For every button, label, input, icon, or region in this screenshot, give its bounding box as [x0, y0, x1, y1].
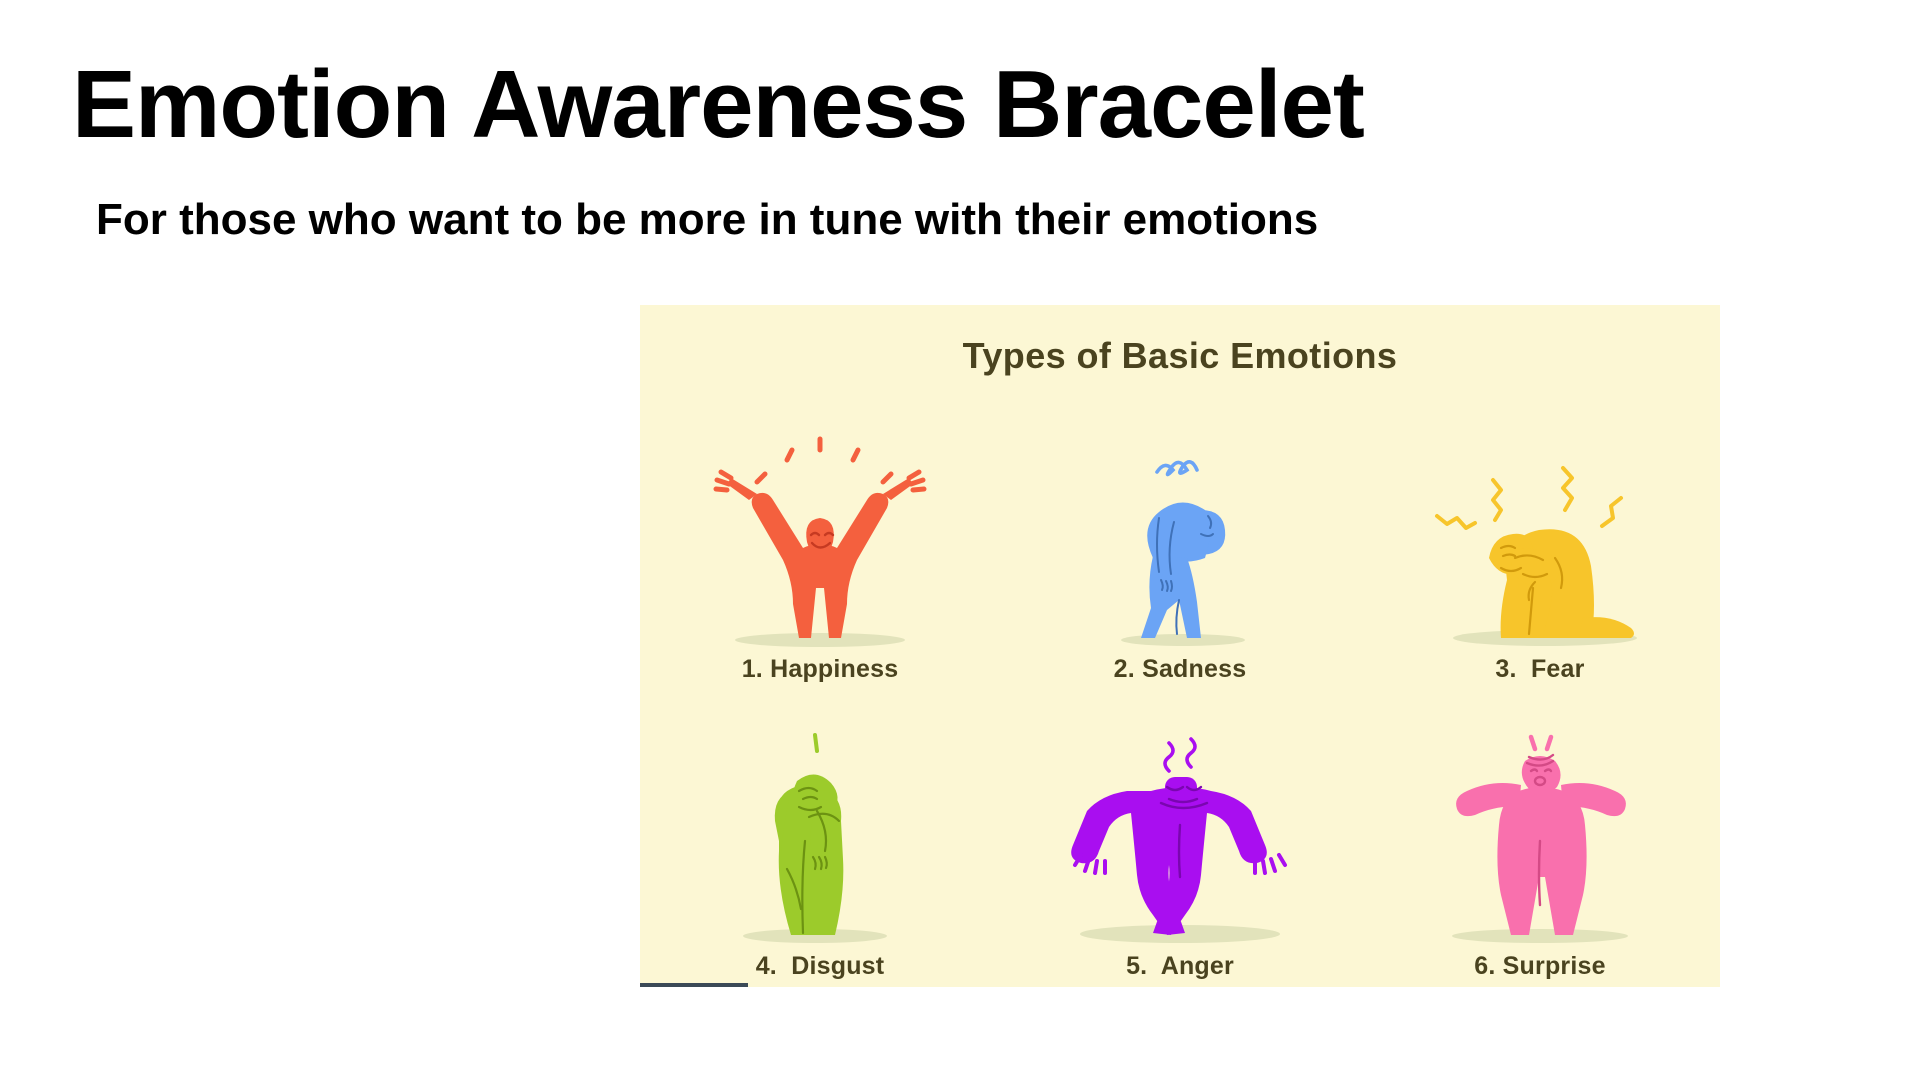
page-title: Emotion Awareness Bracelet: [72, 55, 1364, 156]
emotion-cell-disgust: 4. Disgust: [640, 690, 1000, 987]
emotion-label: 4. Disgust: [756, 952, 885, 981]
emotion-label: 6. Surprise: [1474, 952, 1605, 981]
poster-title: Types of Basic Emotions: [640, 335, 1720, 377]
emotion-poster-image[interactable]: Types of Basic Emotions: [640, 305, 1720, 987]
emotion-grid: 1. Happiness: [640, 393, 1720, 987]
poster-underline-accent: [640, 983, 748, 987]
emotion-label: 3. Fear: [1495, 655, 1584, 684]
emotion-cell-fear: 3. Fear: [1360, 393, 1720, 690]
emotion-cell-happiness: 1. Happiness: [640, 393, 1000, 690]
page-subtitle: For those who want to be more in tune wi…: [96, 196, 1318, 244]
emotion-label: 1. Happiness: [742, 655, 899, 684]
emotion-label: 2. Sadness: [1114, 655, 1247, 684]
anger-figure: [1055, 729, 1305, 944]
disgust-figure: [695, 729, 945, 944]
surprise-figure: [1415, 729, 1665, 944]
fear-figure: [1415, 432, 1665, 647]
happiness-figure: [695, 432, 945, 647]
emotion-cell-sadness: 2. Sadness: [1000, 393, 1360, 690]
emotion-cell-surprise: 6. Surprise: [1360, 690, 1720, 987]
emotion-label: 5. Anger: [1126, 952, 1234, 981]
sadness-figure: [1055, 432, 1305, 647]
emotion-cell-anger: 5. Anger: [1000, 690, 1360, 987]
